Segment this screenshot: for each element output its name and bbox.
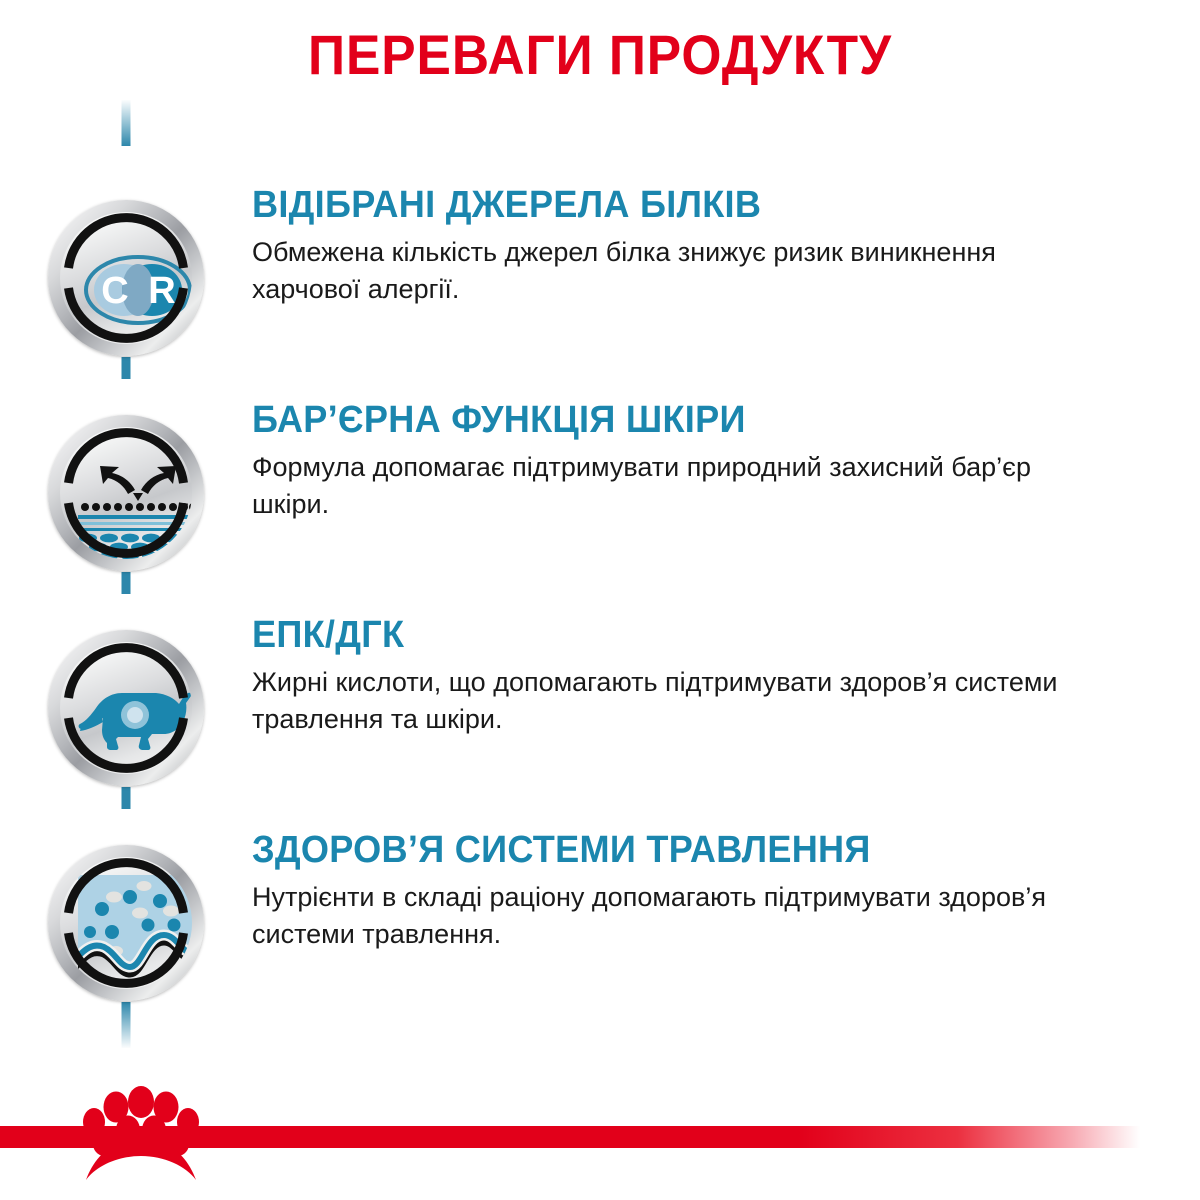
benefit-row: C R ВІДІБРАНІ ДЖЕРЕЛА БІЛКІВ xyxy=(0,150,1200,365)
text-column: ЕПК/ДГК Жирні кислоти, що допомагають пі… xyxy=(252,580,1162,738)
benefit-heading: БАР’ЄРНА ФУНКЦІЯ ШКІРИ xyxy=(252,401,1022,441)
cat-art xyxy=(78,660,192,774)
digestive-art xyxy=(78,875,192,989)
skin-barrier-icon xyxy=(48,415,204,571)
royal-canin-crown-logo xyxy=(78,1080,204,1200)
svg-text:C: C xyxy=(101,270,128,312)
benefit-row: ЗДОРОВ’Я СИСТЕМИ ТРАВЛЕННЯ Нутрієнти в с… xyxy=(0,795,1200,1010)
cr-emblem-art: C R xyxy=(78,230,192,344)
benefit-body: Жирні кислоти, що допомагають підтримува… xyxy=(252,664,1062,739)
icon-column xyxy=(0,795,252,1001)
benefits-list: C R ВІДІБРАНІ ДЖЕРЕЛА БІЛКІВ xyxy=(0,150,1200,1010)
medallion-face: C R xyxy=(60,212,192,344)
icon-column xyxy=(0,580,252,786)
page-title: ПЕРЕВАГИ ПРОДУКТУ xyxy=(48,22,1152,87)
benefit-row: БАР’ЄРНА ФУНКЦІЯ ШКІРИ Формула допомагає… xyxy=(0,365,1200,580)
benefit-row: ЕПК/ДГК Жирні кислоти, що допомагають пі… xyxy=(0,580,1200,795)
medallion-face xyxy=(60,427,192,559)
benefit-heading: ЕПК/ДГК xyxy=(252,616,1022,656)
medallion-face xyxy=(60,642,192,774)
benefit-body: Формула допомагає підтримувати природний… xyxy=(252,449,1062,524)
medallion-face xyxy=(60,857,192,989)
footer xyxy=(0,1080,1200,1200)
benefit-body: Нутрієнти в складі раціону допомагають п… xyxy=(252,879,1062,954)
benefit-heading: ВІДІБРАНІ ДЖЕРЕЛА БІЛКІВ xyxy=(252,186,1022,226)
product-benefits-page: ПЕРЕВАГИ ПРОДУКТУ C xyxy=(0,0,1200,1200)
text-column: ЗДОРОВ’Я СИСТЕМИ ТРАВЛЕННЯ Нутрієнти в с… xyxy=(252,795,1162,953)
icon-column: C R xyxy=(0,150,252,356)
svg-text:R: R xyxy=(148,270,175,312)
connector-line-bottom xyxy=(122,1002,131,1048)
text-column: БАР’ЄРНА ФУНКЦІЯ ШКІРИ Формула допомагає… xyxy=(252,365,1162,523)
benefit-heading: ЗДОРОВ’Я СИСТЕМИ ТРАВЛЕННЯ xyxy=(252,831,1022,871)
connector-line-top xyxy=(122,100,131,146)
protein-sources-cr-icon: C R xyxy=(48,200,204,356)
icon-column xyxy=(0,365,252,571)
skin-barrier-art xyxy=(78,445,192,559)
cat-silhouette-icon xyxy=(48,630,204,786)
text-column: ВІДІБРАНІ ДЖЕРЕЛА БІЛКІВ Обмежена кількі… xyxy=(252,150,1162,308)
benefit-body: Обмежена кількість джерел білка знижує р… xyxy=(252,234,1062,309)
digestive-health-icon xyxy=(48,845,204,1001)
